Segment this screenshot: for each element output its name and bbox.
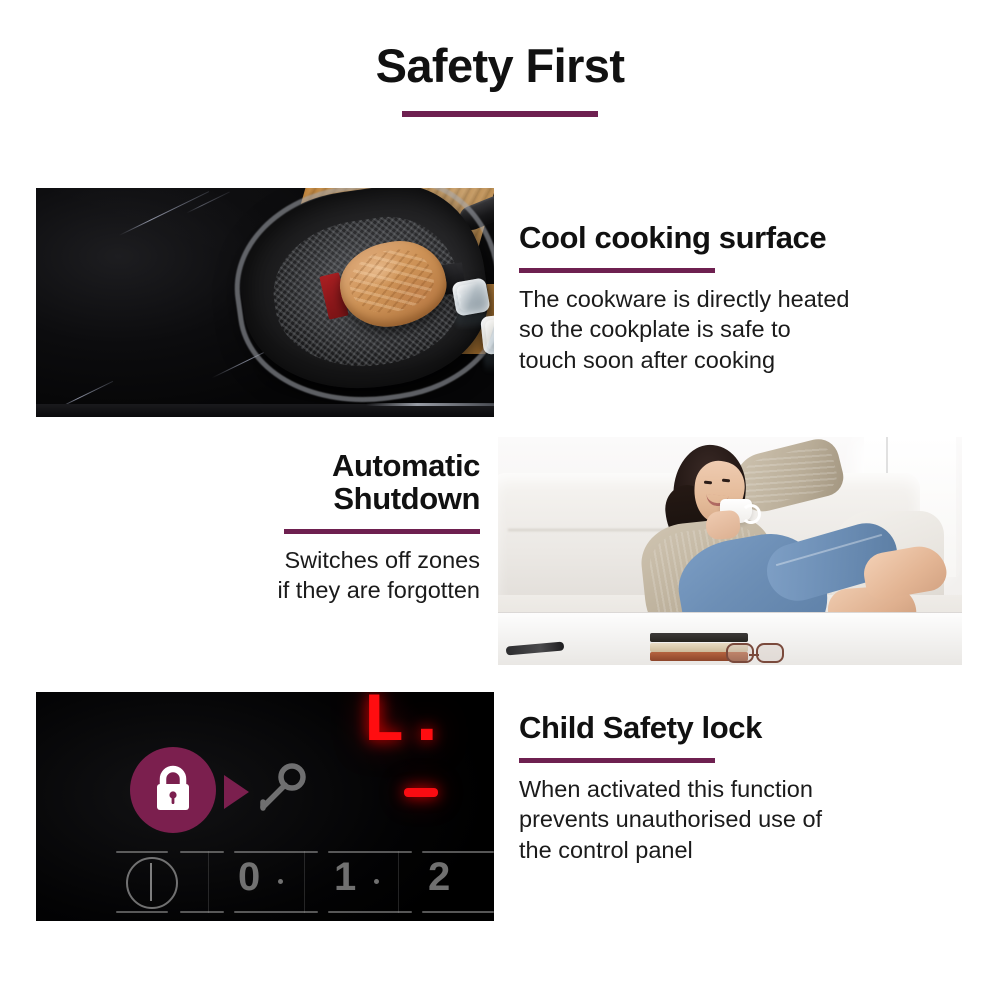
control-divider — [116, 911, 168, 913]
lock-badge — [130, 747, 216, 833]
feature-image-child-safety-lock: L. 0 — [36, 692, 494, 921]
led-dash-indicator — [404, 788, 438, 797]
control-separator — [398, 851, 399, 913]
control-level-2[interactable]: 2 — [428, 855, 450, 900]
power-icon[interactable] — [126, 857, 178, 909]
feature-image-automatic-shutdown — [498, 437, 962, 665]
control-divider — [180, 911, 224, 913]
feature-body: Switches off zones if they are forgotten — [36, 545, 480, 606]
glasses-bridge — [749, 654, 759, 656]
key-icon — [250, 758, 312, 820]
led-lock-indicator: L. — [362, 692, 450, 750]
feature-underline — [519, 268, 715, 273]
control-separator — [208, 851, 209, 913]
control-divider — [328, 851, 412, 853]
control-divider — [234, 851, 318, 853]
feature-underline — [519, 758, 715, 763]
padlock-icon — [150, 765, 196, 815]
hob-front-edge — [366, 403, 494, 406]
arrow-right-icon — [224, 775, 249, 809]
book — [650, 633, 748, 642]
control-separator — [304, 851, 305, 913]
ice-reflection — [484, 351, 494, 373]
page-title: Safety First — [0, 42, 1000, 89]
title-underline — [402, 111, 598, 117]
control-divider — [328, 911, 412, 913]
feature-body: When activated this function prevents un… — [519, 774, 963, 866]
control-dot — [374, 879, 379, 884]
feature-title: Cool cooking surface — [519, 222, 963, 255]
control-divider — [234, 911, 318, 913]
control-level-1[interactable]: 1 — [334, 855, 356, 900]
frying-pan — [232, 188, 494, 407]
feature-copy-child-safety-lock: Child Safety lock When activated this fu… — [519, 712, 963, 866]
feature-title: Child Safety lock — [519, 712, 963, 745]
feature-body: The cookware is directly heated so the c… — [519, 284, 963, 376]
safety-first-page: Safety First Cool cooking su — [0, 0, 1000, 1000]
feature-underline — [284, 529, 480, 534]
control-divider — [422, 911, 494, 913]
control-divider — [116, 851, 168, 853]
control-dot — [278, 879, 283, 884]
feature-image-cool-cooking-surface — [36, 188, 494, 417]
ice-cube — [451, 277, 490, 316]
hob-control-strip[interactable]: 0 1 2 — [112, 851, 494, 913]
control-level-0[interactable]: 0 — [238, 855, 260, 900]
feature-copy-cool-cooking-surface: Cool cooking surface The cookware is dir… — [519, 222, 963, 376]
control-divider — [180, 851, 224, 853]
glasses-lens — [756, 643, 784, 663]
glasses-lens — [726, 643, 754, 663]
woman-hand — [705, 510, 741, 540]
feature-copy-automatic-shutdown: Automatic Shutdown Switches off zones if… — [36, 450, 480, 606]
feature-title: Automatic Shutdown — [36, 450, 480, 516]
eyeglasses — [724, 645, 798, 665]
page-header: Safety First — [0, 42, 1000, 117]
control-divider — [422, 851, 494, 853]
